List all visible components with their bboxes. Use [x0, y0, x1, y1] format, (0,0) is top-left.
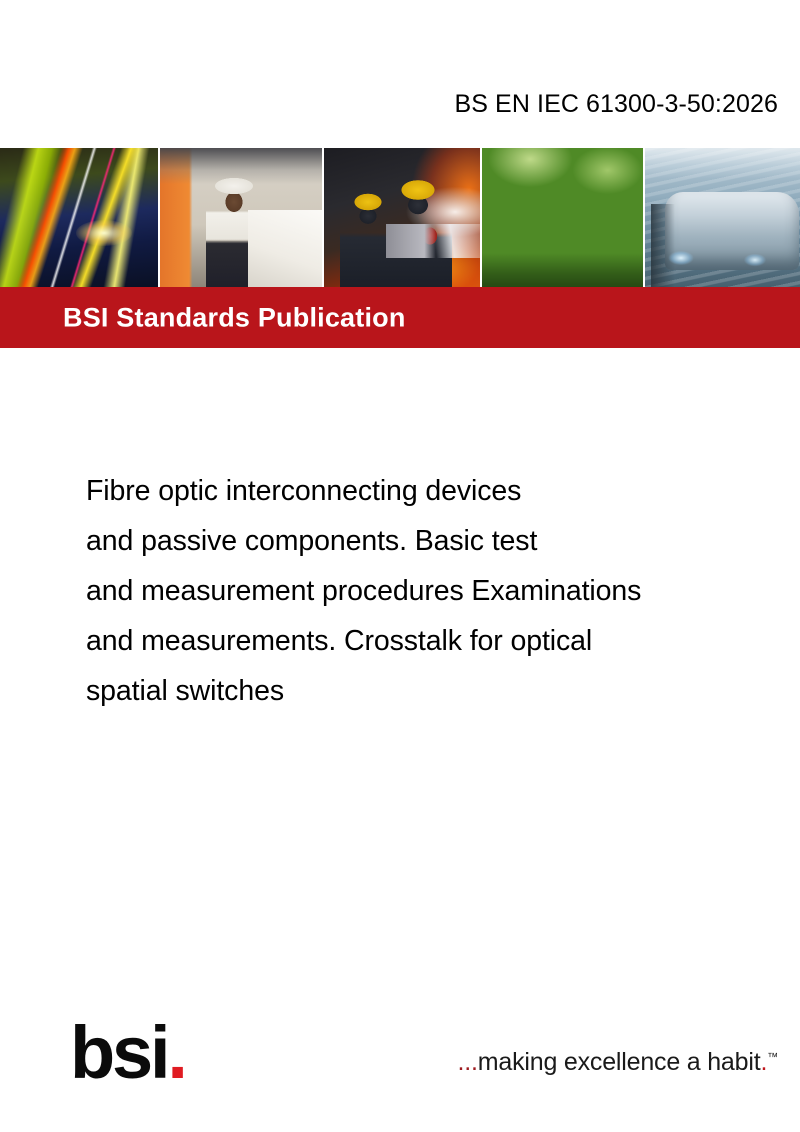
publisher-band: BSI Standards Publication — [0, 287, 800, 348]
bsi-logo: bsi. — [70, 1022, 188, 1084]
photo-panel-forest — [480, 148, 643, 287]
page-title: Fibre optic interconnecting devices and … — [86, 466, 766, 716]
photo-panel-car-assembly-line — [643, 148, 800, 287]
bsi-logo-wordmark: bsi — [70, 1011, 167, 1094]
standard-number: BS EN IEC 61300-3-50:2026 — [454, 90, 778, 119]
tagline-text: making excellence a habit — [478, 1048, 761, 1076]
bsi-logo-dot: . — [167, 1011, 188, 1094]
brand-tagline: ...making excellence a habit.™ — [458, 1048, 778, 1077]
title-line: and passive components. Basic test — [86, 516, 766, 566]
cover-photo-strip — [0, 148, 800, 287]
publication-cover-page: BS EN IEC 61300-3-50:2026 BSI Standards … — [0, 0, 800, 1132]
title-line: and measurement procedures Examinations — [86, 566, 766, 616]
photo-panel-firefighters — [322, 148, 480, 287]
trademark-icon: ™ — [767, 1052, 778, 1064]
title-line: and measurements. Crosstalk for optical — [86, 616, 766, 666]
tagline-ellipsis: ... — [458, 1048, 478, 1076]
title-line: spatial switches — [86, 666, 766, 716]
photo-panel-night-light-trails — [0, 148, 158, 287]
title-line: Fibre optic interconnecting devices — [86, 466, 766, 516]
photo-panel-warehouse-worker — [158, 148, 322, 287]
publisher-band-label: BSI Standards Publication — [63, 302, 406, 333]
